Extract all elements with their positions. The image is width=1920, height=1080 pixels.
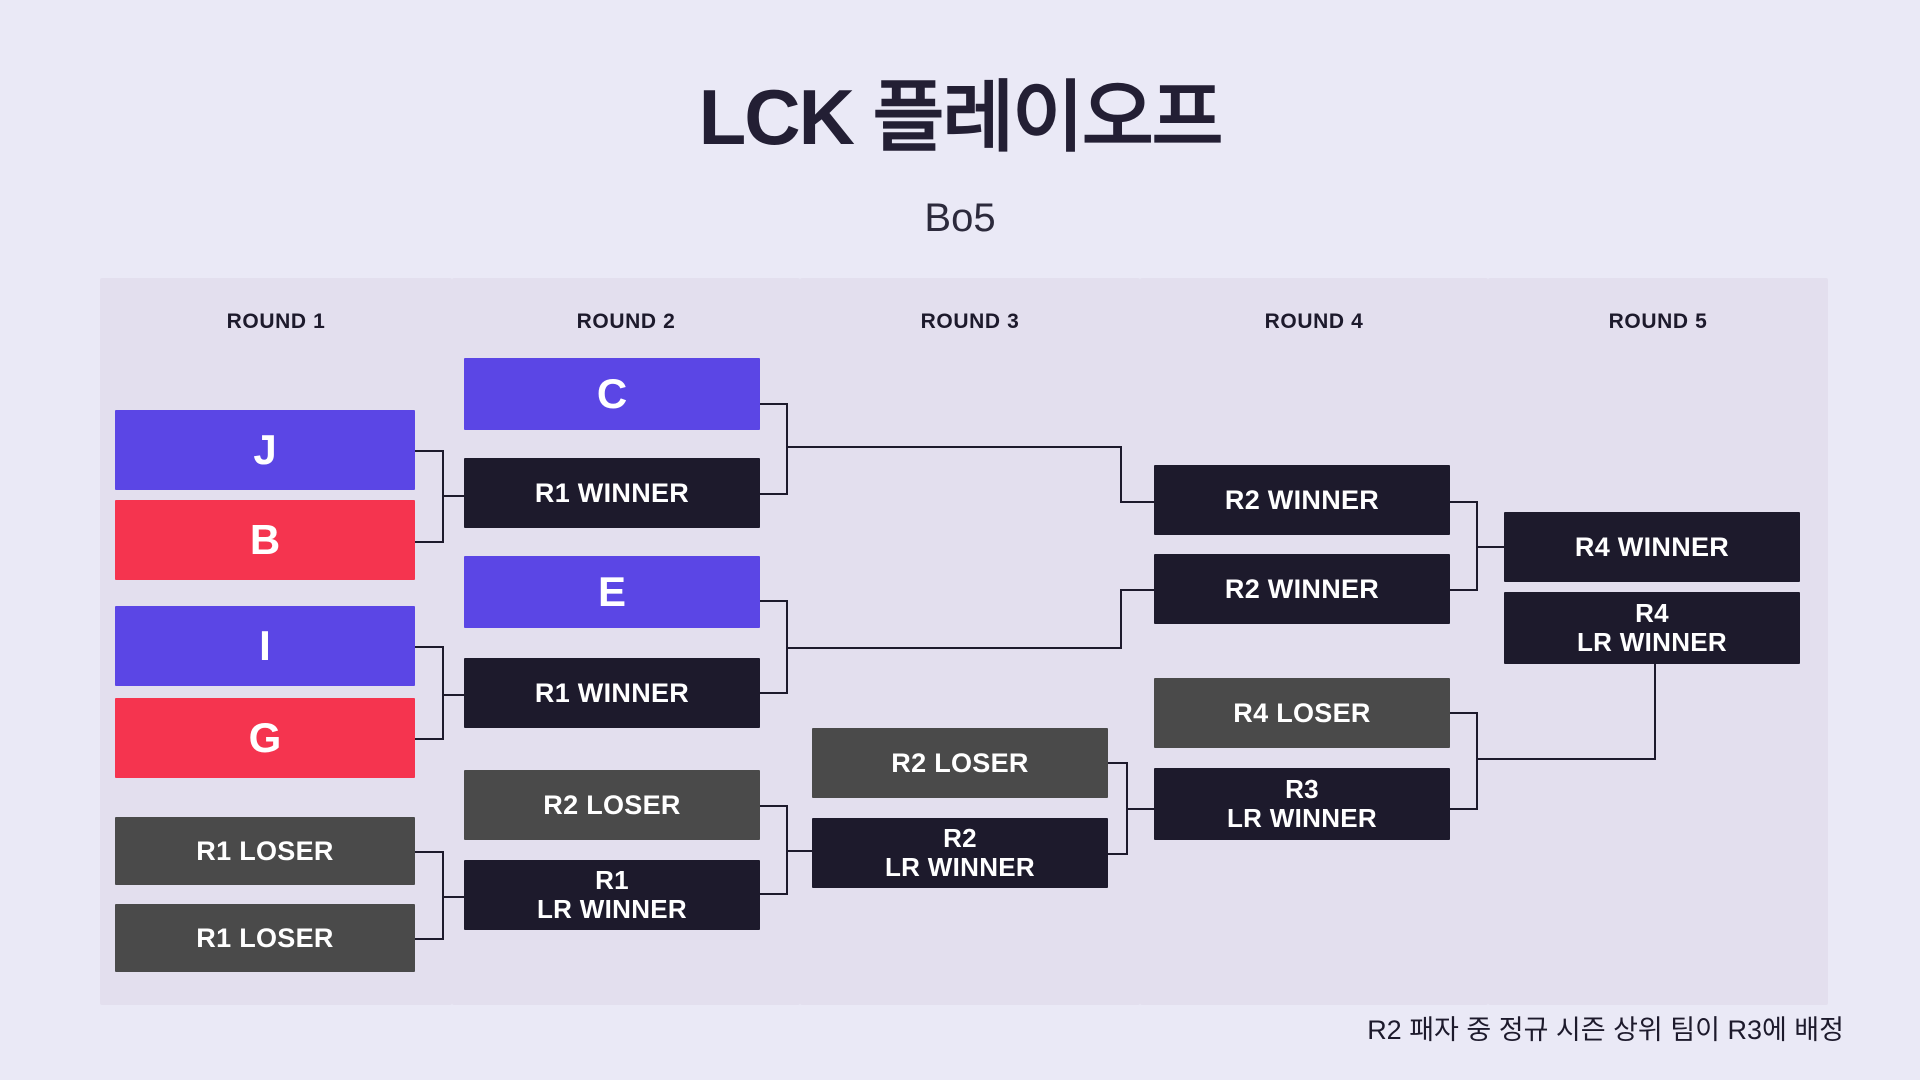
match-box-r2-r1lrw-line1: R1 — [537, 866, 687, 895]
bracket-page: LCK 플레이오프 Bo5 ROUND 1 ROUND 2 ROUND 3 RO… — [0, 0, 1920, 1080]
connector-r1m1-bot — [414, 541, 444, 543]
connector-r4lo-span — [1476, 758, 1656, 760]
connector-r2m2-out — [1120, 589, 1154, 591]
match-box-r4-r3lrw-line1: R3 — [1227, 775, 1377, 804]
match-box-r2-r1lrw[interactable]: R1 LR WINNER — [464, 860, 760, 930]
connector-r1m1-out — [442, 495, 464, 497]
connector-r4lo-rise — [1654, 662, 1656, 760]
connector-r4lo-bot — [1450, 808, 1478, 810]
match-box-r5-r4lrw-line2: LR WINNER — [1577, 628, 1727, 657]
connector-r2m2-rise — [1120, 590, 1122, 649]
connector-r1m2-vert — [442, 646, 444, 740]
match-box-r4-loser[interactable]: R4 LOSER — [1154, 678, 1450, 748]
connector-r2m1-bot — [760, 493, 788, 495]
connector-r1m2-top — [414, 646, 444, 648]
match-box-r4-r2w-1[interactable]: R2 WINNER — [1154, 465, 1450, 535]
round-panel-4 — [1140, 278, 1488, 1005]
connector-r1l-bot — [414, 938, 444, 940]
round-panel-3 — [800, 278, 1140, 1005]
match-box-r2-loser[interactable]: R2 LOSER — [464, 770, 760, 840]
match-box-r1-loser-2[interactable]: R1 LOSER — [115, 904, 415, 972]
connector-r3-out — [1126, 808, 1154, 810]
connector-r4up-top — [1450, 501, 1478, 503]
connector-r4up-bot — [1450, 589, 1478, 591]
match-box-r1-i[interactable]: I — [115, 606, 415, 686]
connector-r2m1-span — [786, 446, 1122, 448]
round-label-5: ROUND 5 — [1488, 308, 1828, 336]
match-box-r4-r2w-2[interactable]: R2 WINNER — [1154, 554, 1450, 624]
match-box-r2-c[interactable]: C — [464, 358, 760, 430]
round-label-4: ROUND 4 — [1140, 308, 1488, 336]
round-label-3: ROUND 3 — [800, 308, 1140, 336]
match-box-r2-r1lrw-line2: LR WINNER — [537, 895, 687, 924]
match-box-r3-r2lrw[interactable]: R2 LR WINNER — [812, 818, 1108, 888]
connector-r2lo-top — [760, 805, 788, 807]
round-label-1: ROUND 1 — [100, 308, 452, 336]
match-box-r5-r4lrw[interactable]: R4 LR WINNER — [1504, 592, 1800, 664]
connector-r2m1-drop — [1120, 446, 1122, 502]
match-box-r2-r1w-1[interactable]: R1 WINNER — [464, 458, 760, 528]
round-label-2: ROUND 2 — [452, 308, 800, 336]
connector-r1m2-bot — [414, 738, 444, 740]
match-box-r4-r3lrw[interactable]: R3 LR WINNER — [1154, 768, 1450, 840]
match-box-r3-r2lrw-line1: R2 — [885, 824, 1035, 853]
connector-r4up-out — [1476, 546, 1504, 548]
connector-r1l-out — [442, 896, 464, 898]
connector-r4lo-top — [1450, 712, 1478, 714]
match-box-r3-r2loser[interactable]: R2 LOSER — [812, 728, 1108, 798]
connector-r2m1-top — [760, 403, 788, 405]
connector-r2m2-top — [760, 600, 788, 602]
match-box-r3-r2lrw-line2: LR WINNER — [885, 853, 1035, 882]
page-subtitle: Bo5 — [0, 198, 1920, 238]
page-title: LCK 플레이오프 — [0, 78, 1920, 156]
connector-r2m2-bot — [760, 692, 788, 694]
connector-r1m1-top — [414, 450, 444, 452]
connector-r1m2-out — [442, 694, 464, 696]
match-box-r2-r1w-2[interactable]: R1 WINNER — [464, 658, 760, 728]
connector-r2lo-bot — [760, 893, 788, 895]
footnote: R2 패자 중 정규 시즌 상위 팀이 R3에 배정 — [1367, 1017, 1844, 1044]
match-box-r1-b[interactable]: B — [115, 500, 415, 580]
connector-r2lo-out — [786, 850, 814, 852]
match-box-r2-e[interactable]: E — [464, 556, 760, 628]
match-box-r5-r4lrw-line1: R4 — [1577, 599, 1727, 628]
match-box-r5-r4w[interactable]: R4 WINNER — [1504, 512, 1800, 582]
match-box-r1-g[interactable]: G — [115, 698, 415, 778]
connector-r2m1-out — [1120, 501, 1154, 503]
connector-r1l-top — [414, 851, 444, 853]
connector-r2m1-vert — [786, 403, 788, 495]
connector-r4lo-vert — [1476, 712, 1478, 810]
connector-r2m2-span — [786, 647, 1122, 649]
match-box-r4-r3lrw-line2: LR WINNER — [1227, 804, 1377, 833]
match-box-r1-loser-1[interactable]: R1 LOSER — [115, 817, 415, 885]
match-box-r1-j[interactable]: J — [115, 410, 415, 490]
